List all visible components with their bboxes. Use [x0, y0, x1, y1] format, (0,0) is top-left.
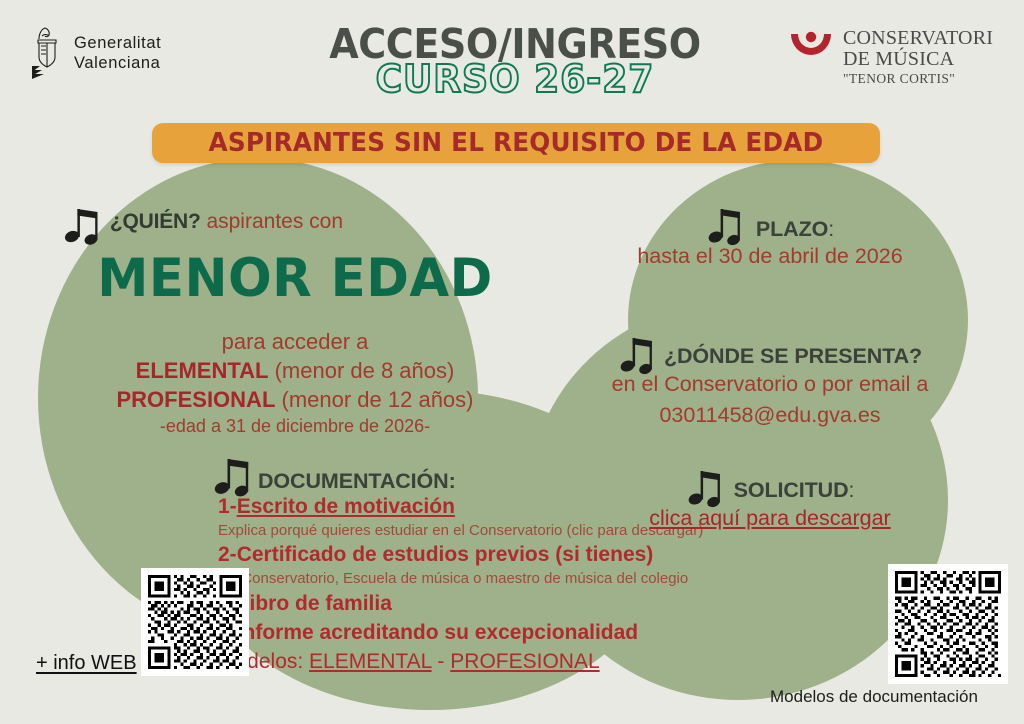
qr-code-icon[interactable] [148, 575, 242, 669]
level-profesional-detail: (menor de 12 años) [275, 387, 473, 412]
models-separator: - [432, 650, 451, 673]
models-profesional-link[interactable]: PROFESIONAL [450, 650, 599, 673]
documentation-title: DOCUMENTACIÓN: [258, 471, 456, 493]
donde-email[interactable]: 03011458@edu.gva.es [560, 402, 980, 430]
qr-code-icon[interactable] [895, 571, 1001, 677]
quien-keyword: ¿QUIÉN? [110, 210, 201, 233]
conservatory-line-2: DE MÚSICA [843, 49, 993, 70]
level-profesional-name: PROFESIONAL [116, 387, 275, 412]
doc-item-3-label: Libro de familia [237, 592, 392, 615]
quien-line: ¿QUIÉN? aspirantes con [60, 200, 530, 246]
doc-item-2-number: 2- [218, 543, 237, 566]
solicitud-heading-text: SOLICITUD [734, 478, 849, 502]
doc-item-4-label: Informe acreditando su excepcionalidad [237, 621, 638, 644]
music-note-icon [212, 448, 260, 498]
conservatory-line-1: CONSERVATORI [843, 28, 993, 49]
qr-modelos-block[interactable] [888, 564, 1008, 684]
headline-banner: ASPIRANTES SIN EL REQUISITO DE LA EDAD [152, 123, 880, 163]
menor-edad-headline: MENOR EDAD [67, 250, 523, 307]
solicitud-colon: : [849, 478, 855, 502]
left-content-column: ¿QUIÉN? aspirantes con MENOR EDAD para a… [60, 200, 530, 437]
generalitat-valenciana-logo: Generalitat Valenciana [30, 26, 161, 80]
generalitat-logo-text: Generalitat Valenciana [74, 33, 161, 73]
edad-reference-note: -edad a 31 de diciembre de 2026- [60, 416, 530, 437]
solicitud-heading-row: SOLICITUD: [560, 462, 980, 502]
level-elemental-detail: (menor de 8 años) [268, 358, 454, 383]
doc-item-1-label[interactable]: Escrito de motivación [237, 495, 455, 518]
music-note-icon [686, 462, 730, 508]
generalitat-crest-icon [30, 26, 64, 80]
donde-heading-row: ¿DÓNDE SE PRESENTA? [560, 329, 980, 368]
models-elemental-link[interactable]: ELEMENTAL [309, 650, 432, 673]
documentation-item-4: 4-Informe acreditando su excepcionalidad [218, 620, 878, 647]
donde-heading: ¿DÓNDE SE PRESENTA? [664, 346, 922, 368]
headline-banner-text: ASPIRANTES SIN EL REQUISITO DE LA EDAD [209, 128, 824, 158]
music-note-icon [62, 200, 108, 246]
conservatory-logo: CONSERVATORI DE MÚSICA "TENOR CORTIS" [788, 28, 993, 86]
qr-left-label: + info WEB [36, 652, 137, 675]
solicitud-heading: SOLICITUD: [734, 480, 855, 502]
solicitud-group: SOLICITUD: clica aquí para descargar [560, 462, 980, 533]
doc-item-2-sub: De Conservatorio, Escuela de música o ma… [218, 569, 878, 589]
level-elemental-name: ELEMENTAL [136, 358, 269, 383]
documentation-item-3: 3-Libro de familia [218, 591, 878, 618]
right-content-column: PLAZO: hasta el 30 de abril de 2026 ¿DÓN… [560, 200, 980, 553]
gva-line-2: Valenciana [74, 53, 161, 73]
conservatory-smile-icon [788, 28, 834, 72]
para-acceder-text: para acceder a [60, 327, 530, 356]
solicitud-download-link[interactable]: clica aquí para descargar [560, 505, 980, 533]
doc-item-1-number: 1- [218, 495, 237, 518]
documentation-models-line: modelos: ELEMENTAL - PROFESIONAL [218, 648, 878, 675]
conservatory-logo-text: CONSERVATORI DE MÚSICA "TENOR CORTIS" [843, 28, 993, 86]
conservatory-line-3: "TENOR CORTIS" [843, 72, 993, 86]
music-note-icon [618, 329, 662, 375]
level-profesional-line: PROFESIONAL (menor de 12 años) [60, 385, 530, 414]
plazo-heading-row: PLAZO: [560, 200, 980, 240]
plazo-colon: : [828, 217, 834, 241]
donde-group: ¿DÓNDE SE PRESENTA? en el Conservatorio … [560, 329, 980, 430]
title-block: ACCESO/INGRESO CURSO 26-27 [300, 24, 730, 98]
plazo-body: hasta el 30 de abril de 2026 [560, 243, 980, 271]
music-note-icon [706, 200, 750, 246]
gva-line-1: Generalitat [74, 33, 161, 53]
page-subtitle: CURSO 26-27 [311, 60, 720, 98]
qr-left-box[interactable] [141, 568, 249, 676]
poster-canvas: Generalitat Valenciana ACCESO/INGRESO CU… [0, 0, 1024, 724]
level-elemental-line: ELEMENTAL (menor de 8 años) [60, 356, 530, 385]
plazo-heading-text: PLAZO [756, 217, 828, 241]
quien-rest: aspirantes con [201, 210, 343, 233]
donde-body-line-1: en el Conservatorio o por email a [560, 371, 980, 399]
plazo-group: PLAZO: hasta el 30 de abril de 2026 [560, 200, 980, 271]
qr-info-web-block[interactable]: + info WEB [36, 568, 249, 679]
qr-right-box[interactable] [888, 564, 1008, 684]
plazo-heading: PLAZO: [756, 219, 834, 241]
qr-right-label: Modelos de documentación [770, 687, 978, 707]
